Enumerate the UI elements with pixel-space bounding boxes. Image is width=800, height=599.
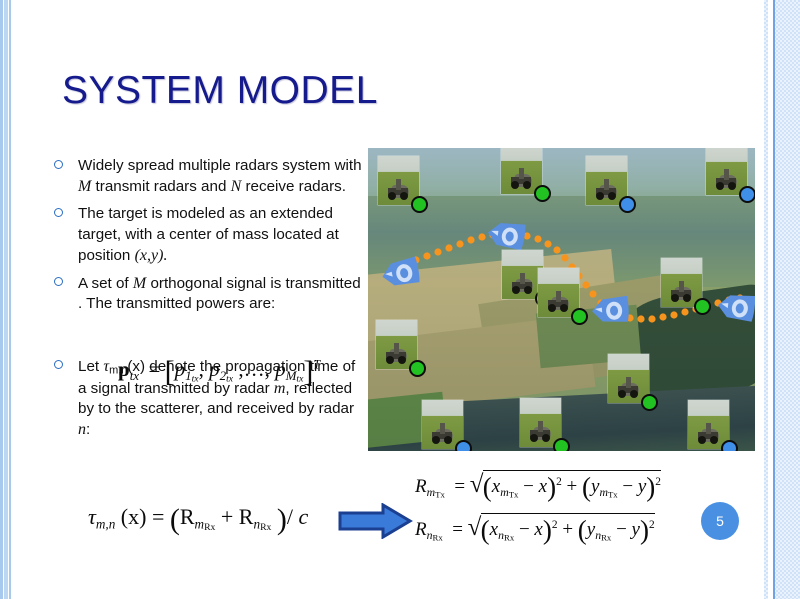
radar-receive-dot xyxy=(455,440,472,451)
equation-r-nrx: RnRx = √(xnRx − x)2 + (ynRx − y)2 xyxy=(415,513,661,546)
bullet-circle-icon xyxy=(54,277,63,286)
radar-vehicle-photo xyxy=(667,277,696,303)
radar-vehicle-photo xyxy=(382,339,411,365)
equation-tau: τm,n (x) = (RmRx + RnRx )/ c xyxy=(88,503,308,537)
scatterer-icon xyxy=(714,288,755,325)
slide-number-badge: 5 xyxy=(701,502,739,540)
radar-vehicle-photo xyxy=(384,175,413,201)
bullet-circle-icon xyxy=(54,208,63,217)
equation-r-mtx: RmTx = √(xmTx − x)2 + (ymTx − y)2 xyxy=(415,470,661,503)
radar-receive-dot xyxy=(739,186,755,203)
presentation-slide: SYSTEM MODEL Widely spread multiple rada… xyxy=(0,0,800,599)
radar-vehicle-photo xyxy=(614,373,643,399)
radar-vehicle-photo xyxy=(712,165,741,191)
radar-station-marker xyxy=(586,156,627,205)
right-arrow-icon xyxy=(337,503,413,539)
radar-vehicle-photo xyxy=(694,419,723,445)
radar-transmit-dot xyxy=(694,298,711,315)
radar-transmit-dot xyxy=(571,308,588,325)
radar-vehicle-photo xyxy=(508,269,537,295)
radar-station-marker xyxy=(501,148,542,194)
bullet-list: Widely spread multiple radars system wit… xyxy=(48,156,366,448)
equation-range-group: RmTx = √(xmTx − x)2 + (ymTx − y)2 RnRx =… xyxy=(415,470,661,556)
right-border-gap-outer xyxy=(758,0,764,599)
radar-station-marker xyxy=(706,148,747,195)
scatterer-icon xyxy=(589,292,631,328)
right-decorative-border xyxy=(758,0,800,599)
radar-receive-dot xyxy=(619,196,636,213)
radar-station-marker xyxy=(376,320,417,369)
radar-transmit-dot xyxy=(534,185,551,202)
equation-p-tx: ptx = [p1tx, p2tx ,…, pMtx]T xyxy=(118,355,320,389)
scatterer-icon xyxy=(484,215,528,253)
radar-vehicle-photo xyxy=(507,164,536,190)
radar-receive-dot xyxy=(721,440,738,451)
radar-vehicle-photo xyxy=(544,287,573,313)
bullet-circle-icon xyxy=(54,360,63,369)
radar-station-marker xyxy=(422,400,463,449)
radar-station-marker xyxy=(538,268,579,317)
right-border-accent-line xyxy=(773,0,775,599)
radar-transmit-dot xyxy=(411,196,428,213)
radar-station-marker xyxy=(502,250,543,299)
list-item: Widely spread multiple radars system wit… xyxy=(48,156,366,197)
radar-network-diagram xyxy=(368,148,755,451)
radar-station-marker xyxy=(378,156,419,205)
radar-station-marker xyxy=(520,398,561,447)
bullet-3-text: A set of M orthogonal signal is transmit… xyxy=(78,275,361,312)
list-item: The target is modeled as an extended tar… xyxy=(48,204,366,266)
radar-vehicle-photo xyxy=(592,175,621,201)
left-decorative-border xyxy=(0,0,11,599)
radar-station-marker xyxy=(688,400,729,449)
list-item: A set of M orthogonal signal is transmit… xyxy=(48,273,366,314)
radar-vehicle-photo xyxy=(428,419,457,445)
radar-station-marker xyxy=(608,354,649,403)
radar-vehicle-photo xyxy=(526,417,555,443)
scatterer-icon xyxy=(377,252,423,293)
radar-transmit-dot xyxy=(641,394,658,411)
bullet-2-text: The target is modeled as an extended tar… xyxy=(78,205,339,263)
bullet-circle-icon xyxy=(54,160,63,169)
page-title: SYSTEM MODEL xyxy=(62,69,378,113)
bullet-1-text: Widely spread multiple radars system wit… xyxy=(78,157,362,195)
radar-transmit-dot xyxy=(553,438,570,451)
radar-transmit-dot xyxy=(409,360,426,377)
radar-station-marker xyxy=(661,258,702,307)
